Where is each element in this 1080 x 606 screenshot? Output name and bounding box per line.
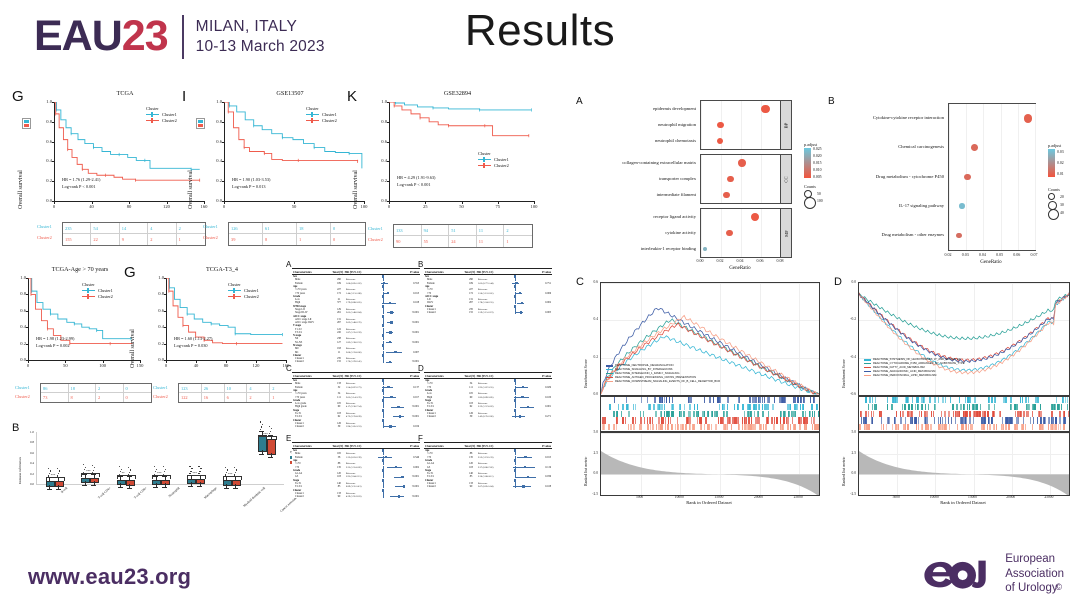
hit-tick <box>984 411 986 417</box>
legend-swatch <box>606 377 613 378</box>
x-tick: 15000 <box>709 495 729 499</box>
table-header-row: CharacteristicsTotal (N)HR (95% CI)P val… <box>292 372 420 379</box>
box-outlier <box>190 471 191 472</box>
pvalue-cell: 0.005 <box>536 311 552 314</box>
hit-tick <box>613 411 615 417</box>
box-rect <box>196 479 205 484</box>
x-tick-mark <box>196 360 197 363</box>
x-tick-mark <box>256 360 257 363</box>
table-header-row: CharacteristicsTotal (N)HR (95% CI)P val… <box>292 268 420 275</box>
hit-tick <box>704 411 705 417</box>
hit-tick <box>628 411 630 417</box>
table-header-row: CharacteristicsTotal (N)HR (95% CI)P val… <box>292 442 420 449</box>
box-outlier <box>235 472 236 473</box>
page-title: Results <box>0 6 1080 56</box>
x-tick: 0 <box>48 204 60 209</box>
x-axis-label: GeneRatio <box>700 266 780 271</box>
box-outlier <box>191 468 192 469</box>
box-outlier <box>128 467 129 468</box>
gridline <box>741 101 742 149</box>
hit-tick <box>804 397 805 403</box>
x-axis-label: GeneRatio <box>948 260 1034 265</box>
hit-tick <box>713 397 715 403</box>
legend-swatch <box>864 375 871 376</box>
y-tick: 0.0 <box>154 357 164 362</box>
hit-tick <box>661 397 662 403</box>
hit-tick <box>934 397 935 403</box>
column-header <box>508 444 536 448</box>
hit-tick <box>985 417 986 423</box>
box-outlier <box>189 466 190 467</box>
legend-swatch <box>82 290 95 292</box>
x-tick-mark <box>364 201 365 204</box>
hit-tick <box>666 397 668 403</box>
reference-line <box>383 360 385 363</box>
km-curve-cluster1 <box>28 278 131 339</box>
gridline <box>721 209 722 257</box>
hit-tick <box>748 417 750 423</box>
hit-tick <box>783 417 785 423</box>
hit-tick <box>749 397 751 403</box>
hit-tick <box>618 404 619 410</box>
legend-swatch <box>864 359 871 360</box>
box-rect <box>55 481 64 486</box>
y-tick: 0.6 <box>16 308 26 313</box>
hit-tick <box>921 411 922 417</box>
slide-root: EAU 23 MILAN, ITALY 10-13 March 2023 Res… <box>0 0 1080 606</box>
box-rect <box>187 479 196 484</box>
hit-tick <box>925 424 927 430</box>
hit-tick <box>782 424 784 430</box>
y-tick: 0.2 <box>24 472 34 476</box>
column-header: HR (95% CI) <box>477 270 509 274</box>
size-legend-label: 20 <box>1060 195 1064 199</box>
y-tick: 0.2 <box>212 178 222 183</box>
hit-tick <box>784 397 785 403</box>
table-row: Cluster2902.07 (0.85-5.04)0.108 <box>424 485 552 488</box>
slide-header: EAU 23 MILAN, ITALY 10-13 March 2023 Res… <box>0 0 1080 78</box>
hit-tick <box>886 424 887 430</box>
hit-tick <box>905 397 906 403</box>
hit-tick <box>746 417 748 423</box>
enrichment-dot <box>959 203 964 208</box>
hazard-ratio-text: HR = 1.98 (1.23-2.99) <box>36 336 74 341</box>
hit-tick <box>902 411 904 417</box>
hit-tick <box>616 417 618 423</box>
legend-label: REACTOME_DOWNSTREAM_SIGNALING_EVENTS_OF_… <box>615 380 720 384</box>
hit-tick <box>1027 411 1028 417</box>
hit-tick <box>664 404 666 410</box>
hit-tick <box>723 404 725 410</box>
km-legend: ClusterCluster1Cluster2 <box>228 282 259 299</box>
hit-tick <box>632 417 634 423</box>
panel-letter: I <box>182 88 186 105</box>
hit-tick <box>1067 404 1069 410</box>
panel-letter: F <box>418 434 423 443</box>
size-legend-label: 30 <box>1060 203 1064 207</box>
column-header: P value <box>404 444 420 448</box>
hit-tick <box>955 411 956 417</box>
x-tick-mark <box>389 201 390 204</box>
term-label: Drug metabolism - other enzymes <box>830 232 944 237</box>
significance-stars: *** <box>51 473 56 477</box>
box-outlier <box>226 472 227 473</box>
hit-tick <box>922 424 924 430</box>
km-curve-cluster2 <box>28 278 133 344</box>
x-tick-mark <box>224 201 225 204</box>
color-legend-tick: 0.010 <box>813 168 822 172</box>
hit-tick <box>755 404 757 410</box>
hit-tick <box>1016 424 1018 430</box>
box-outlier <box>130 469 131 470</box>
hit-tick <box>1025 397 1027 403</box>
legend-swatch <box>864 367 871 368</box>
column-header: Total (N) <box>331 374 345 378</box>
risk-cell: 22 <box>91 234 119 245</box>
hit-tick <box>1043 417 1045 423</box>
hit-tick <box>806 424 807 430</box>
legend-swatch <box>864 363 871 364</box>
hit-tick <box>715 424 717 430</box>
footer-website-link[interactable]: www.eau23.org <box>28 564 191 590</box>
km-legend: ClusterCluster1Cluster2 <box>82 282 113 299</box>
y-tick: 0.8 <box>212 119 222 124</box>
legend-title: Cluster <box>306 106 337 111</box>
hit-tick <box>940 417 941 423</box>
legend-item: REACTOME_DOWNSTREAM_SIGNALING_EVENTS_OF_… <box>606 380 720 384</box>
y-tick: 0.8 <box>42 119 52 124</box>
gridline <box>761 209 762 257</box>
enrichment-dot <box>717 122 723 128</box>
hit-tick <box>614 397 615 403</box>
column-header: Total (N) <box>463 270 477 274</box>
hit-tick <box>930 424 932 430</box>
x-tick: 120 <box>250 363 262 368</box>
hit-tick <box>652 417 653 423</box>
characteristic-cell: Cluster2 <box>292 360 332 363</box>
gridline <box>741 209 742 257</box>
y-tick: 0.4 <box>212 158 222 163</box>
hit-tick <box>953 411 954 417</box>
hit-tick <box>863 417 865 423</box>
x-tick: 25 <box>419 204 431 209</box>
y-tick-bottom: 5.0 <box>845 430 856 434</box>
hit-tick <box>755 397 757 403</box>
hit-tick <box>908 404 910 410</box>
forest-plot-cell <box>377 425 404 428</box>
legend-item: Cluster1 <box>478 157 509 162</box>
hit-tick <box>691 397 692 403</box>
panel-letter: B <box>418 260 423 269</box>
hit-tick <box>762 397 763 403</box>
x-tick: 160 <box>198 204 210 209</box>
y-tick: 0.8 <box>16 291 26 296</box>
box-outlier <box>234 467 235 468</box>
box-rect <box>126 480 135 485</box>
hit-tick <box>644 417 646 423</box>
enrichment-dot <box>703 247 707 251</box>
x-tick: 10000 <box>669 495 689 499</box>
hit-tick <box>950 397 951 403</box>
hit-tick <box>727 404 729 410</box>
hit-tick <box>1054 404 1055 410</box>
hit-tick <box>661 417 662 423</box>
hit-tick <box>742 404 743 410</box>
y-tick: 0.6 <box>377 139 387 144</box>
hit-tick <box>934 404 935 410</box>
y-tick-bottom: 0.0 <box>845 471 856 475</box>
y-axis-label: Overall survival <box>130 329 136 368</box>
box-cap-bottom <box>259 454 264 455</box>
x-tick: 0.06 <box>753 258 767 263</box>
hit-tick <box>672 404 674 410</box>
box-outlier <box>236 469 237 470</box>
hit-tick <box>818 411 819 417</box>
hit-tick <box>979 411 981 417</box>
risk-cell: 54 <box>91 223 119 234</box>
hit-tick <box>1005 417 1006 423</box>
km-legend: ClusterCluster1Cluster2 <box>146 106 177 123</box>
box-cap-bottom <box>224 488 229 489</box>
box-whisker-top <box>262 431 263 435</box>
risk-cell: 235 <box>63 223 91 234</box>
column-header: HR (95% CI) <box>345 270 377 274</box>
legend-label: Cluster1 <box>494 157 509 162</box>
reference-line <box>515 415 517 418</box>
significance-bracket <box>117 475 136 479</box>
hit-tick <box>1069 404 1070 410</box>
y-tick: 0.2 <box>16 341 26 346</box>
enrichment-dot <box>738 159 745 166</box>
hit-tick <box>724 424 726 430</box>
hit-tick <box>1041 424 1043 430</box>
hit-tick <box>918 417 920 423</box>
hit-tick <box>1056 397 1058 403</box>
box-outlier <box>92 465 93 466</box>
risk-cell: 10 <box>225 384 248 393</box>
hit-tick <box>934 417 935 423</box>
hit-tick <box>679 411 680 417</box>
hit-tick <box>794 397 796 403</box>
hit-tick <box>1010 404 1011 410</box>
point-estimate-marker <box>524 456 526 458</box>
risk-table: 1339451112905524111 <box>393 224 533 248</box>
hit-tick <box>924 411 926 417</box>
hit-tick <box>729 417 731 423</box>
gridline <box>1035 104 1036 250</box>
legend-swatch <box>606 369 613 370</box>
hit-tick <box>1040 417 1041 423</box>
legend-item: Cluster2 <box>146 118 177 123</box>
hit-tick <box>971 424 973 430</box>
hit-tick <box>1057 404 1059 410</box>
term-label: cytokine activity <box>560 230 696 235</box>
box-cap-bottom <box>188 486 193 487</box>
legend-label: REACTOME_PEROXISOMAL_LIPID_METABOLISM <box>873 374 936 378</box>
y-tick: 0.4 <box>42 158 52 163</box>
box-outlier <box>93 470 94 471</box>
hit-tick <box>767 404 769 410</box>
significance-bracket <box>258 436 277 440</box>
panel-letter: D <box>418 364 424 373</box>
risk-cell: 2 <box>270 384 293 393</box>
hit-tick <box>605 417 606 423</box>
hit-tick <box>1014 404 1016 410</box>
total-n-cell: 39 <box>332 425 346 428</box>
hit-tick <box>816 404 817 410</box>
hit-tick <box>887 397 888 403</box>
hit-tick <box>1029 404 1030 410</box>
hit-tick <box>719 404 721 410</box>
hit-tick <box>609 404 611 410</box>
hit-tick <box>1058 424 1059 430</box>
gsea-enrichment-score-box <box>858 282 1070 396</box>
point-estimate-marker <box>527 406 529 408</box>
x-tick: 5000 <box>886 495 906 499</box>
legend-item: Cluster1 <box>228 288 259 293</box>
hit-tick <box>635 404 636 410</box>
risk-cell: 122 <box>179 393 202 402</box>
term-label: transporter complex <box>560 176 696 181</box>
hit-tick <box>789 404 790 410</box>
hit-tick <box>685 424 687 430</box>
hit-tick <box>969 397 970 403</box>
hit-tick <box>911 404 913 410</box>
pvalue-cell: <0.001 <box>404 495 420 498</box>
legend-swatch <box>306 120 319 122</box>
enrichment-dot <box>761 105 770 114</box>
hit-tick <box>738 424 739 430</box>
hit-tick <box>989 424 990 430</box>
hit-tick <box>660 411 662 417</box>
hit-tick <box>896 411 897 417</box>
color-legend-tick: 0.025 <box>813 147 822 151</box>
y-tick-bottom: 0.0 <box>587 471 598 475</box>
point-estimate-marker <box>387 386 389 388</box>
hit-tick <box>653 404 655 410</box>
hit-tick <box>716 411 717 417</box>
hit-tick <box>780 411 782 417</box>
hit-tick <box>1069 411 1070 417</box>
hit-tick <box>662 424 663 430</box>
hit-tick <box>633 404 634 410</box>
x-tick: 120 <box>161 204 173 209</box>
box-outlier <box>120 471 121 472</box>
hit-tick <box>711 424 712 430</box>
hit-tick <box>751 417 753 423</box>
point-estimate-marker <box>519 415 521 417</box>
hit-tick <box>945 397 946 403</box>
hit-tick <box>895 424 897 430</box>
hit-tick <box>1026 411 1027 417</box>
box-rect <box>152 480 161 485</box>
hit-tick <box>723 411 724 417</box>
point-estimate-marker <box>395 466 397 468</box>
forest-table-c: CharacteristicsTotal (N)HR (95% CI)P val… <box>292 372 420 428</box>
hit-tick <box>727 411 729 417</box>
hit-tick <box>698 411 699 417</box>
risk-table: 86182073820 <box>40 383 152 403</box>
size-legend-circle <box>1048 193 1055 200</box>
hr-ci-cell: 1.90 (1.05-3.53) <box>346 425 377 428</box>
x-tick-mark <box>65 360 66 363</box>
significance-bracket <box>152 475 171 479</box>
hr-ci-cell: 2.07 (0.85-5.04) <box>478 485 509 488</box>
hit-tick <box>881 417 882 423</box>
risk-cell: 24 <box>449 236 477 247</box>
x-tick: 0.06 <box>1010 252 1024 257</box>
reference-line <box>515 485 517 488</box>
x-tick: 100 <box>528 204 540 209</box>
risk-row-label: Cluster1 <box>153 385 168 390</box>
hit-tick <box>749 404 751 410</box>
hit-tick <box>765 404 767 410</box>
hit-tick <box>788 411 790 417</box>
hit-tick <box>875 397 877 403</box>
hit-tick <box>746 424 748 430</box>
total-n-cell: 155 <box>332 360 346 363</box>
hit-tick <box>868 411 869 417</box>
facet-panel-mf <box>700 208 782 258</box>
logrank-pvalue-text: Log-rank P < 0.001 <box>62 184 96 189</box>
hit-tick <box>742 424 743 430</box>
color-legend-title: p.adjust <box>1048 143 1061 148</box>
box-outlier <box>129 472 130 473</box>
risk-cell: 55 <box>422 236 450 247</box>
cluster2-swatch <box>198 124 203 127</box>
point-estimate-marker <box>397 406 399 408</box>
hit-tick <box>747 404 748 410</box>
box-outlier <box>50 470 51 471</box>
facet-panel-cc <box>700 154 782 204</box>
slide-footer: www.eau23.org European Association of Ur… <box>0 546 1080 606</box>
gsea-running-curves <box>859 283 1069 395</box>
box-outlier <box>163 466 164 467</box>
forest-plot-cell <box>509 311 536 314</box>
hit-tick <box>819 411 820 417</box>
hit-tick <box>763 424 764 430</box>
legend-swatch <box>146 120 159 122</box>
column-header: HR (95% CI) <box>477 444 509 448</box>
hit-tick <box>942 397 944 403</box>
category-label: T cell CD4+ <box>97 486 111 500</box>
hit-tick <box>982 411 984 417</box>
hit-tick <box>1063 424 1065 430</box>
hit-tick <box>941 411 943 417</box>
hit-tick <box>1050 424 1051 430</box>
hit-tick <box>1023 417 1024 423</box>
y-tick-top: -0.6 <box>845 392 856 396</box>
hazard-ratio-text: HR = 1.76 (1.29-2.41) <box>62 177 100 182</box>
legend-item: Cluster1 <box>82 288 113 293</box>
hit-tick <box>686 417 687 423</box>
hit-tick <box>731 424 732 430</box>
hit-tick <box>626 397 627 403</box>
x-tick: 40 <box>190 363 202 368</box>
box-outlier <box>270 431 271 432</box>
hit-tick <box>894 417 896 423</box>
hit-tick <box>720 397 721 403</box>
hit-tick <box>759 417 760 423</box>
hit-tick <box>635 417 636 423</box>
color-legend-tick: 0.015 <box>813 161 822 165</box>
risk-cell: 0 <box>124 384 152 393</box>
y-tick-bottom: 5.0 <box>587 430 598 434</box>
hit-tick <box>699 417 700 423</box>
hit-tick <box>865 397 867 403</box>
hit-tick <box>665 417 666 423</box>
forest-table-f: CharacteristicsTotal (N)HR (95% CI)P val… <box>424 442 552 488</box>
